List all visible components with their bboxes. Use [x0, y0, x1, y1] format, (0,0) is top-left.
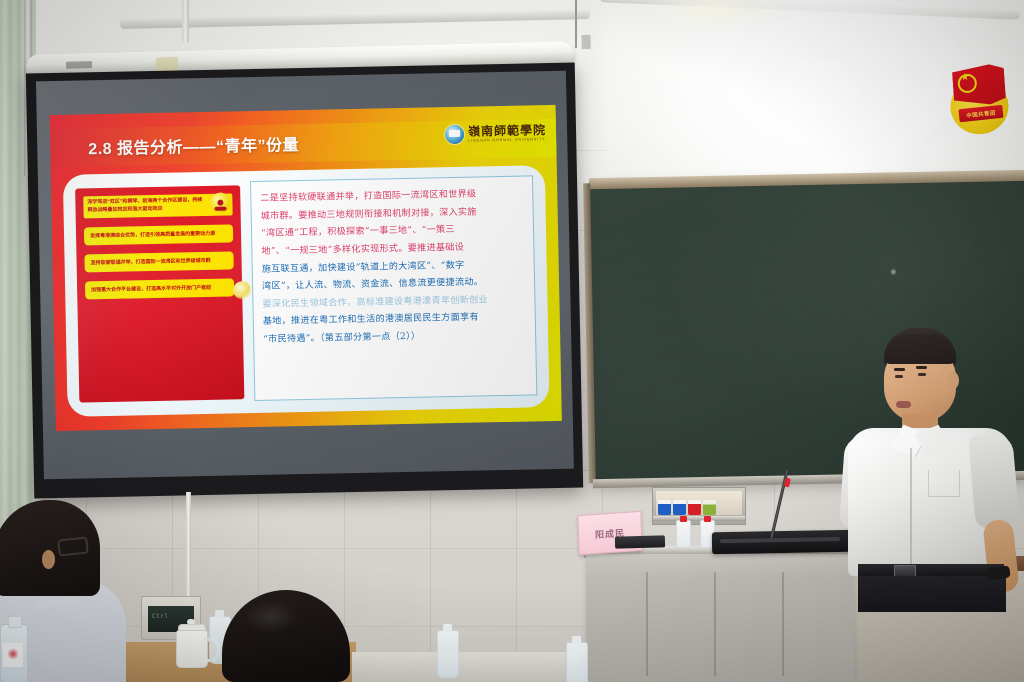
person-badge-icon: [210, 192, 230, 212]
university-name-cn: 嶺南師範學院: [468, 124, 546, 138]
hanging-wire: [575, 0, 577, 48]
left-panel-box: 发挥粤港澳综合优势，打造引领高质量发展的重要动力源: [84, 224, 233, 245]
presenter: [840, 328, 1024, 598]
water-bottle: [437, 630, 459, 678]
left-panel-box: 加强重大合作平台建设，打造高水平对外开放门户枢纽: [85, 278, 234, 299]
audience-member-glasses: [57, 536, 89, 556]
cup-red: [688, 500, 701, 515]
presenter-hairline: [884, 334, 956, 364]
emblem-ribbon-text: 中国共青团: [966, 108, 996, 119]
projector-screen-frame: 2.8 报告分析——“青年”份量 嶺南師範學院 LINGNAN NORMAL U…: [26, 63, 583, 499]
presentation-slide: 2.8 报告分析——“青年”份量 嶺南師範學院 LINGNAN NORMAL U…: [50, 105, 562, 431]
left-panel-header: 深学笃进“双区”和横琴、前海两个合作区建设，持续释放战略叠加效应和强大驱动效应: [83, 193, 232, 217]
left-panel-box: 坚持软硬联通并举，打造国际一流湾区和世界级城市群: [84, 251, 233, 272]
speaker-name-card: 阳成民: [577, 511, 642, 555]
cup-green: [703, 500, 716, 515]
audience-member-hair-sheen: [244, 600, 298, 634]
water-bottle: [0, 624, 28, 682]
university-crest-icon: [445, 125, 464, 144]
presenter-shirt-pocket: [928, 470, 960, 497]
lecture-photo-scene: 中国共青团 2.8 报告分析——“青年”份量 嶺南師範學院 LINGNAN NO…: [0, 0, 1024, 682]
roller-brand-label: [66, 61, 92, 69]
slide-right-panel: 二是坚持软硬联通并举，打造国际一流湾区和世界级 城市群。要推动三地规则衔接和机制…: [250, 175, 537, 401]
presenter-sleeve-right: [968, 432, 1020, 529]
cup-blue: [673, 500, 686, 515]
control-panel-display-text: Ctrl: [152, 613, 168, 620]
microphone-base[interactable]: [712, 530, 854, 554]
slide-left-panel: 深学笃进“双区”和横琴、前海两个合作区建设，持续释放战略叠加效应和强大驱动效应 …: [75, 185, 244, 402]
audience-table-right: [352, 652, 582, 682]
slide-light-glow: [233, 281, 251, 299]
ceiling-light-glare-spot: [640, 0, 790, 28]
water-bottle[interactable]: [676, 520, 691, 548]
cup-blue: [658, 500, 671, 515]
projector-screen-surface: 2.8 报告分析——“青年”份量 嶺南師範學院 LINGNAN NORMAL U…: [36, 71, 574, 480]
communist-youth-league-emblem: 中国共青团: [944, 61, 1019, 140]
slide-title: 2.8 报告分析——“青年”份量: [88, 131, 299, 159]
ceiling-pipe: [182, 0, 189, 42]
shelf-items: [656, 491, 742, 515]
shelf-lip: [653, 516, 745, 521]
roller-sticker: [156, 57, 178, 72]
slide-content-area: 深学笃进“双区”和横琴、前海两个合作区建设，持续释放战略叠加效应和强大驱动效应 …: [63, 165, 550, 417]
wall-shelf: [652, 487, 746, 525]
water-bottle: [566, 642, 588, 682]
presenter-ear: [948, 372, 959, 389]
presenter-mouth: [896, 401, 911, 408]
presenter-trousers: [858, 576, 1006, 612]
audience-member-ear: [42, 550, 55, 569]
lectern: [586, 554, 854, 682]
chalk-smudge: [891, 269, 896, 274]
presenter-shirt-placket: [910, 448, 912, 566]
bottle-label: [3, 643, 23, 667]
wall-conduit-pipe: [186, 492, 191, 598]
podium-device[interactable]: [615, 535, 665, 548]
roller-bracket: [581, 35, 590, 49]
university-name-en: LINGNAN NORMAL UNIVERSITY: [468, 138, 546, 143]
university-logo: 嶺南師範學院 LINGNAN NORMAL UNIVERSITY: [445, 123, 546, 144]
